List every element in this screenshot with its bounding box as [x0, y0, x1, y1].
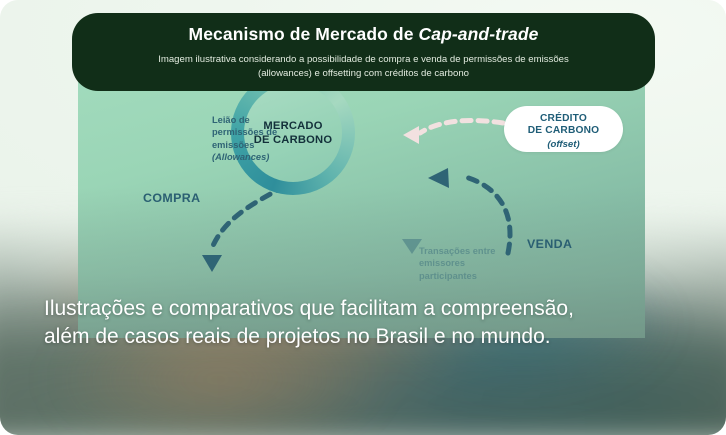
diagram-title: Mecanismo de Mercado de Cap-and-trade [72, 25, 655, 44]
arrow-credit-to-market-path [420, 120, 503, 133]
slide-caption: Ilustrações e comparativos que facilitam… [44, 295, 604, 350]
auction-label-text: Leião de permissões de emissões [212, 115, 277, 150]
carbon-credit-badge: CRÉDITO DE CARBONO (offset) [504, 106, 623, 152]
venda-label: VENDA [527, 237, 572, 251]
transactions-label: Transações entre emissores participantes [419, 245, 511, 282]
arrow-venda-to-market-head [428, 168, 449, 188]
diagram-title-italic: Cap-and-trade [419, 24, 539, 44]
slide-card: MERCADO DE CARBONO Leião de permissões d… [0, 0, 726, 435]
auction-label: Leião de permissões de emissões (Allowan… [212, 114, 298, 164]
arrow-venda-to-market-path [462, 176, 510, 253]
auction-label-allowances: (Allowances) [212, 152, 269, 162]
diagram-header: Mecanismo de Mercado de Cap-and-trade Im… [72, 13, 655, 91]
carbon-credit-badge-line2: DE CARBONO [504, 125, 623, 137]
carbon-credit-badge-line1: CRÉDITO [504, 113, 623, 125]
arrow-credit-to-market-head [403, 126, 419, 144]
compra-label: COMPRA [143, 191, 200, 205]
diagram-title-plain: Mecanismo de Mercado de [189, 24, 419, 44]
arrow-market-to-compra-head [202, 255, 222, 272]
diagram-subtitle: Imagem ilustrativa considerando a possib… [72, 53, 655, 80]
carbon-credit-badge-line3: (offset) [504, 139, 623, 150]
